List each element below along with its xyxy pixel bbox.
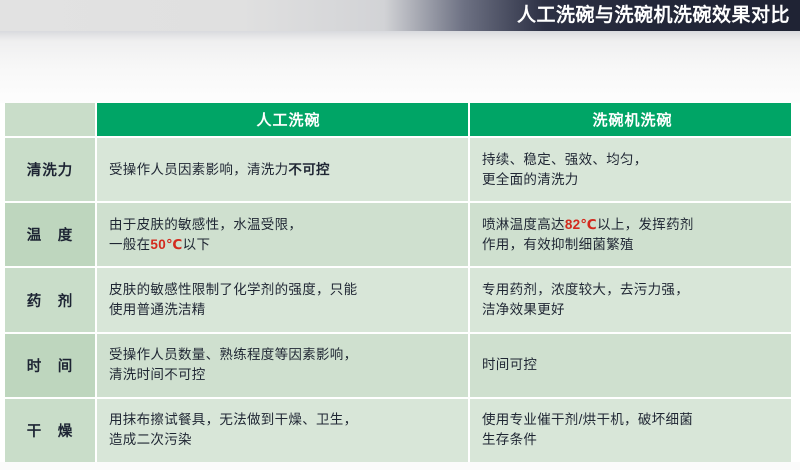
row-category-cell: 药 剂	[5, 268, 97, 331]
row-category-label: 药 剂	[27, 290, 74, 311]
machine-line: 使用专业催干剂/烘干机，破坏细菌	[482, 410, 693, 430]
manual-tail: 以下	[183, 237, 211, 252]
manual-plain: 清洗时间不可控	[109, 367, 206, 382]
header-cell-manual: 人工洗碗	[97, 103, 470, 136]
table-bottom-strip	[0, 462, 800, 470]
machine-text: 专用药剂，浓度较大，去污力强，洁净效果更好	[482, 280, 689, 320]
row-category-label: 干 燥	[27, 420, 74, 441]
row-category-cell: 清洗力	[5, 138, 97, 201]
row-machine-cell: 使用专业催干剂/烘干机，破坏细菌生存条件	[470, 399, 791, 462]
row-machine-cell: 持续、稳定、强效、均匀，更全面的清洗力	[470, 138, 791, 201]
machine-line: 生存条件	[482, 430, 693, 450]
manual-line: 受操作人员因素影响，清洗力不可控	[109, 160, 330, 180]
machine-tail: 以上，发挥药剂	[597, 217, 694, 232]
manual-line: 受操作人员数量、熟练程度等因素影响，	[109, 345, 357, 365]
table-row: 清洗力受操作人员因素影响，清洗力不可控持续、稳定、强效、均匀，更全面的清洗力	[5, 136, 791, 201]
machine-line: 持续、稳定、强效、均匀，	[482, 150, 648, 170]
machine-text: 使用专业催干剂/烘干机，破坏细菌生存条件	[482, 410, 693, 450]
machine-highlight: 82℃	[565, 217, 597, 232]
row-machine-cell: 时间可控	[470, 334, 791, 397]
table-row: 温 度由于皮肤的敏感性，水温受限，一般在50℃以下喷淋温度高达82℃以上，发挥药…	[5, 201, 791, 266]
row-machine-cell: 喷淋温度高达82℃以上，发挥药剂作用，有效抑制细菌繁殖	[470, 203, 791, 266]
manual-text: 皮肤的敏感性限制了化学剂的强度，只能使用普通洗洁精	[109, 280, 357, 320]
manual-text: 受操作人员因素影响，清洗力不可控	[109, 160, 330, 180]
machine-plain: 作用，有效抑制细菌繁殖	[482, 237, 634, 252]
table-header-row: 人工洗碗 洗碗机洗碗	[5, 103, 791, 136]
manual-plain: 造成二次污染	[109, 432, 192, 447]
row-manual-cell: 用抹布擦试餐具，无法做到干燥、卫生，造成二次污染	[97, 399, 470, 462]
row-manual-cell: 受操作人员数量、熟练程度等因素影响，清洗时间不可控	[97, 334, 470, 397]
machine-line: 洁净效果更好	[482, 300, 689, 320]
machine-line: 更全面的清洗力	[482, 170, 648, 190]
machine-plain: 生存条件	[482, 432, 537, 447]
manual-line: 由于皮肤的敏感性，水温受限，	[109, 215, 302, 235]
row-category-label: 时 间	[27, 355, 74, 376]
table-row: 药 剂皮肤的敏感性限制了化学剂的强度，只能使用普通洗洁精专用药剂，浓度较大，去污…	[5, 266, 791, 331]
row-manual-cell: 皮肤的敏感性限制了化学剂的强度，只能使用普通洗洁精	[97, 268, 470, 331]
machine-line: 专用药剂，浓度较大，去污力强，	[482, 280, 689, 300]
manual-plain: 受操作人员因素影响，清洗力	[109, 162, 288, 177]
row-category-label: 温 度	[27, 224, 74, 245]
row-machine-cell: 专用药剂，浓度较大，去污力强，洁净效果更好	[470, 268, 791, 331]
machine-plain: 时间可控	[482, 357, 537, 372]
header-label-manual: 人工洗碗	[256, 109, 320, 130]
page-root: 人工洗碗与洗碗机洗碗效果对比 人工洗碗 洗碗机洗碗 清洗力受操作人员因素影响，清…	[0, 0, 800, 470]
machine-line: 喷淋温度高达82℃以上，发挥药剂	[482, 215, 694, 235]
header-label-machine: 洗碗机洗碗	[592, 109, 672, 130]
machine-plain: 更全面的清洗力	[482, 172, 579, 187]
machine-text: 喷淋温度高达82℃以上，发挥药剂作用，有效抑制细菌繁殖	[482, 215, 694, 255]
manual-plain: 用抹布擦试餐具，无法做到干燥、卫生，	[109, 412, 357, 427]
manual-text: 受操作人员数量、熟练程度等因素影响，清洗时间不可控	[109, 345, 357, 385]
manual-line: 用抹布擦试餐具，无法做到干燥、卫生，	[109, 410, 357, 430]
header-cell-machine: 洗碗机洗碗	[470, 103, 791, 136]
page-title: 人工洗碗与洗碗机洗碗效果对比	[517, 0, 790, 31]
manual-line: 一般在50℃以下	[109, 235, 302, 255]
row-manual-cell: 由于皮肤的敏感性，水温受限，一般在50℃以下	[97, 203, 470, 266]
manual-plain: 一般在	[109, 237, 150, 252]
table-body: 清洗力受操作人员因素影响，清洗力不可控持续、稳定、强效、均匀，更全面的清洗力温 …	[5, 136, 791, 462]
row-category-cell: 干 燥	[5, 399, 97, 462]
manual-plain: 由于皮肤的敏感性，水温受限，	[109, 217, 302, 232]
manual-plain: 皮肤的敏感性限制了化学剂的强度，只能	[109, 282, 357, 297]
machine-plain: 专用药剂，浓度较大，去污力强，	[482, 282, 689, 297]
row-category-cell: 时 间	[5, 334, 97, 397]
machine-text: 持续、稳定、强效、均匀，更全面的清洗力	[482, 150, 648, 190]
title-banner: 人工洗碗与洗碗机洗碗效果对比	[0, 0, 800, 31]
background-gap	[0, 41, 800, 103]
machine-plain: 持续、稳定、强效、均匀，	[482, 152, 648, 167]
machine-plain: 洁净效果更好	[482, 302, 565, 317]
manual-plain: 使用普通洗洁精	[109, 302, 206, 317]
machine-line: 时间可控	[482, 355, 537, 375]
comparison-table: 人工洗碗 洗碗机洗碗 清洗力受操作人员因素影响，清洗力不可控持续、稳定、强效、均…	[5, 103, 791, 462]
row-category-label: 清洗力	[27, 159, 74, 180]
manual-highlight: 50℃	[150, 237, 182, 252]
manual-line: 使用普通洗洁精	[109, 300, 357, 320]
manual-emphasis: 不可控	[288, 162, 329, 177]
table-row: 时 间受操作人员数量、熟练程度等因素影响，清洗时间不可控时间可控	[5, 332, 791, 397]
machine-plain: 使用专业催干剂/烘干机，破坏细菌	[482, 412, 693, 427]
manual-text: 由于皮肤的敏感性，水温受限，一般在50℃以下	[109, 215, 302, 255]
manual-line: 清洗时间不可控	[109, 365, 357, 385]
manual-line: 皮肤的敏感性限制了化学剂的强度，只能	[109, 280, 357, 300]
machine-text: 时间可控	[482, 355, 537, 375]
row-manual-cell: 受操作人员因素影响，清洗力不可控	[97, 138, 470, 201]
manual-line: 造成二次污染	[109, 430, 357, 450]
machine-line: 作用，有效抑制细菌繁殖	[482, 235, 694, 255]
row-category-cell: 温 度	[5, 203, 97, 266]
manual-text: 用抹布擦试餐具，无法做到干燥、卫生，造成二次污染	[109, 410, 357, 450]
manual-plain: 受操作人员数量、熟练程度等因素影响，	[109, 347, 357, 362]
table-row: 干 燥用抹布擦试餐具，无法做到干燥、卫生，造成二次污染使用专业催干剂/烘干机，破…	[5, 397, 791, 462]
machine-plain: 喷淋温度高达	[482, 217, 565, 232]
banner-shadow-strip	[0, 31, 800, 41]
header-cell-category	[5, 103, 97, 136]
